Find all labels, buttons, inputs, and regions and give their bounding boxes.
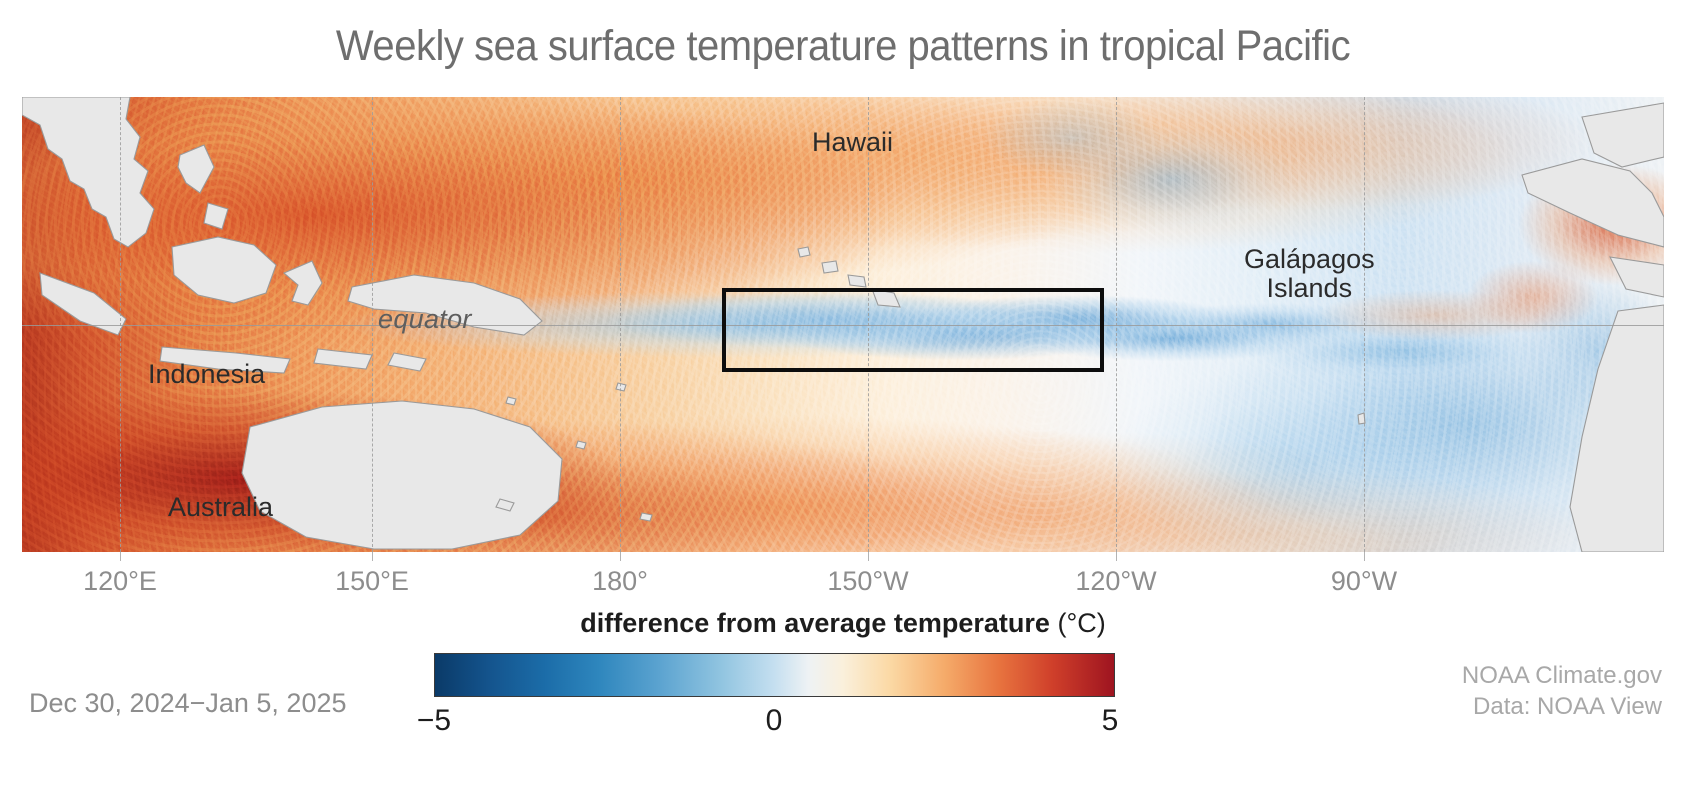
axis-label-150E: 150°E	[335, 566, 409, 597]
axis-label-90W: 90°W	[1331, 566, 1397, 597]
credit-source: NOAA Climate.gov	[1462, 661, 1662, 692]
sst-anomaly-map: equator Hawaii Galápagos Islands Indones…	[22, 97, 1664, 552]
galapagos-line2: Islands	[1267, 273, 1353, 303]
date-range-label: Dec 30, 2024−Jan 5, 2025	[29, 688, 347, 719]
axis-tick-150E	[372, 552, 373, 561]
axis-tick-120W	[1116, 552, 1117, 561]
axis-tick-120E	[120, 552, 121, 561]
colorbar-gradient	[434, 653, 1115, 697]
map-label-indonesia: Indonesia	[148, 359, 265, 390]
axis-tick-150W	[868, 552, 869, 561]
galapagos-line1: Galápagos	[1244, 244, 1375, 274]
colorbar-section: difference from average temperature (°C)…	[0, 608, 1686, 639]
colorbar-label: difference from average temperature (°C)	[0, 608, 1686, 639]
colorbar-label-unit: (°C)	[1057, 608, 1105, 638]
map-label-hawaii: Hawaii	[812, 127, 893, 158]
equator-label: equator	[378, 304, 472, 335]
credit-block: NOAA Climate.gov Data: NOAA View	[1462, 661, 1662, 722]
nino34-region-box	[722, 288, 1104, 372]
colorbar-label-main: difference from average temperature	[580, 608, 1057, 638]
axis-label-120W: 120°W	[1075, 566, 1156, 597]
axis-label-150W: 150°W	[827, 566, 908, 597]
colorbar-tick-max: 5	[1102, 704, 1119, 738]
axis-label-120E: 120°E	[83, 566, 157, 597]
page-title: Weekly sea surface temperature patterns …	[59, 22, 1627, 71]
credit-data: Data: NOAA View	[1462, 692, 1662, 723]
axis-tick-90W	[1364, 552, 1365, 561]
map-label-australia: Australia	[168, 492, 273, 523]
colorbar-tick-min: −5	[417, 704, 451, 738]
axis-tick-180	[620, 552, 621, 561]
colorbar-tick-mid: 0	[766, 704, 783, 738]
axis-label-180: 180°	[592, 566, 648, 597]
map-label-galapagos: Galápagos Islands	[1244, 245, 1375, 303]
